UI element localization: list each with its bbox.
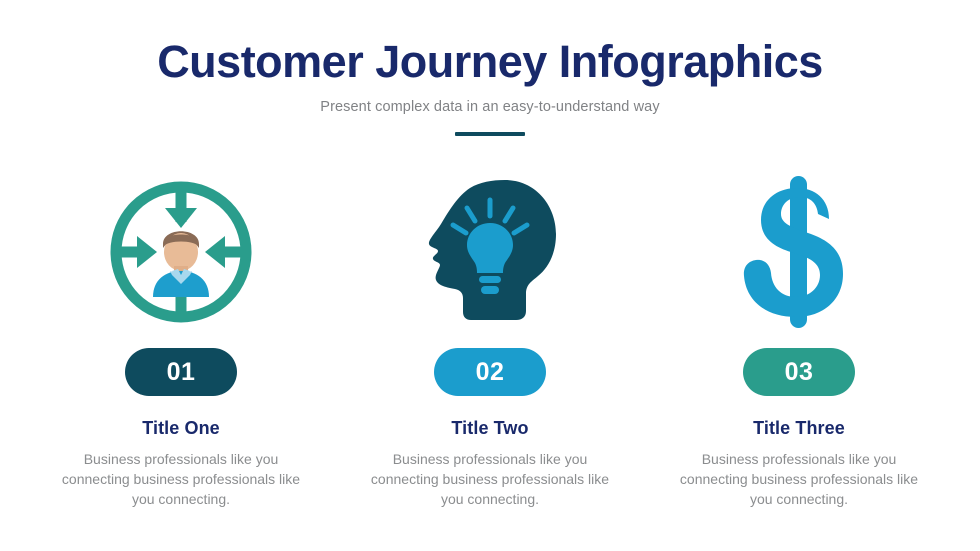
infographic-column-3[interactable]: 03 Title Three Business professionals li… — [646, 168, 952, 510]
slide-header: Customer Journey Infographics Present co… — [0, 38, 980, 136]
icon-container-2 — [410, 168, 570, 336]
infographic-column-1[interactable]: 01 Title One Business professionals like… — [28, 168, 334, 510]
infographic-column-2[interactable]: 02 Title Two Business professionals like… — [337, 168, 643, 510]
title-divider — [455, 132, 525, 136]
column-description-2: Business professionals like you connecti… — [365, 450, 615, 510]
target-audience-icon — [101, 172, 261, 332]
page-title: Customer Journey Infographics — [0, 38, 980, 85]
infographic-columns: 01 Title One Business professionals like… — [0, 168, 980, 510]
page-subtitle: Present complex data in an easy-to-under… — [0, 99, 980, 115]
infographic-slide: Customer Journey Infographics Present co… — [0, 0, 980, 551]
column-title-3: Title Three — [753, 418, 845, 439]
icon-container-3 — [719, 168, 879, 336]
column-description-3: Business professionals like you connecti… — [674, 450, 924, 510]
column-title-1: Title One — [142, 418, 220, 439]
head-lightbulb-idea-icon — [410, 172, 570, 332]
column-title-2: Title Two — [451, 418, 528, 439]
step-badge-01: 01 — [125, 348, 237, 396]
icon-container-1 — [101, 168, 261, 336]
step-badge-02: 02 — [434, 348, 546, 396]
step-badge-03: 03 — [743, 348, 855, 396]
column-description-1: Business professionals like you connecti… — [56, 450, 306, 510]
dollar-sign-icon — [719, 172, 879, 332]
